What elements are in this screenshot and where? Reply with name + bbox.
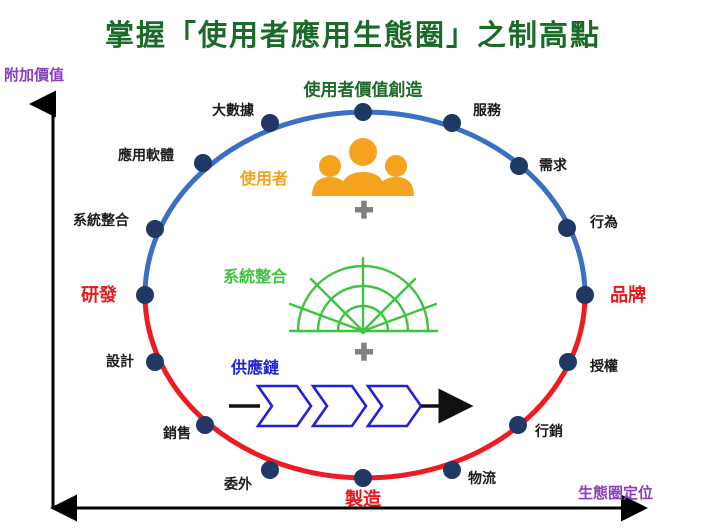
left-node[interactable]	[136, 286, 154, 304]
ring-node-dot[interactable]	[261, 461, 279, 479]
ring-node-dot[interactable]	[558, 219, 576, 237]
center-label-user: 使用者	[240, 165, 288, 189]
ring-node-dot[interactable]	[261, 114, 279, 132]
chevron-flow-icon	[229, 386, 470, 426]
plus-icon-1	[355, 201, 373, 219]
ring-node-label: 行為	[590, 212, 618, 232]
ring-node-label: 授權	[590, 356, 618, 376]
ring-node-dot[interactable]	[443, 114, 461, 132]
ring-node-dot[interactable]	[194, 154, 212, 172]
x-axis-label: 生態圈定位	[578, 482, 653, 503]
ring-label-top: 使用者價值創造	[304, 76, 423, 101]
ring-node-dot[interactable]	[559, 353, 577, 371]
plus-icon-2	[355, 343, 373, 361]
ring-node-label: 物流	[468, 468, 496, 488]
center-label-system: 系統整合	[223, 263, 287, 287]
right-node[interactable]	[576, 286, 594, 304]
ring-node-dot[interactable]	[146, 353, 164, 371]
diagram-canvas: 掌握「使用者應用生態圈」之制高點	[0, 0, 706, 528]
ring-node-label: 應用軟體	[118, 145, 174, 165]
ring-node-label: 需求	[539, 155, 567, 175]
radial-fan-icon	[290, 258, 437, 334]
ring-node-dot[interactable]	[196, 416, 214, 434]
ring-node-label: 委外	[224, 474, 252, 494]
ring-node-dot[interactable]	[510, 157, 528, 175]
ring-label-left: 研發	[81, 281, 117, 307]
ring-node-dot[interactable]	[443, 461, 461, 479]
ring-node-dot[interactable]	[146, 220, 164, 238]
ring-node-dot[interactable]	[509, 416, 527, 434]
y-axis-label: 附加價值	[4, 64, 64, 85]
top-node[interactable]	[354, 103, 372, 121]
ring-node-label: 服務	[473, 100, 501, 120]
lower-arc-manufacturing	[145, 295, 585, 478]
ring-label-right: 品牌	[610, 281, 646, 307]
ring-node-label: 設計	[106, 351, 134, 371]
people-icon	[312, 138, 414, 196]
center-label-supply: 供應鏈	[231, 354, 279, 378]
ring-node-label: 銷售	[163, 423, 191, 443]
ring-node-label: 大數據	[212, 100, 254, 120]
ring-node-label: 行銷	[535, 421, 563, 441]
ring-label-bottom: 製造	[345, 485, 381, 511]
ring-node-label: 系統整合	[73, 210, 129, 230]
